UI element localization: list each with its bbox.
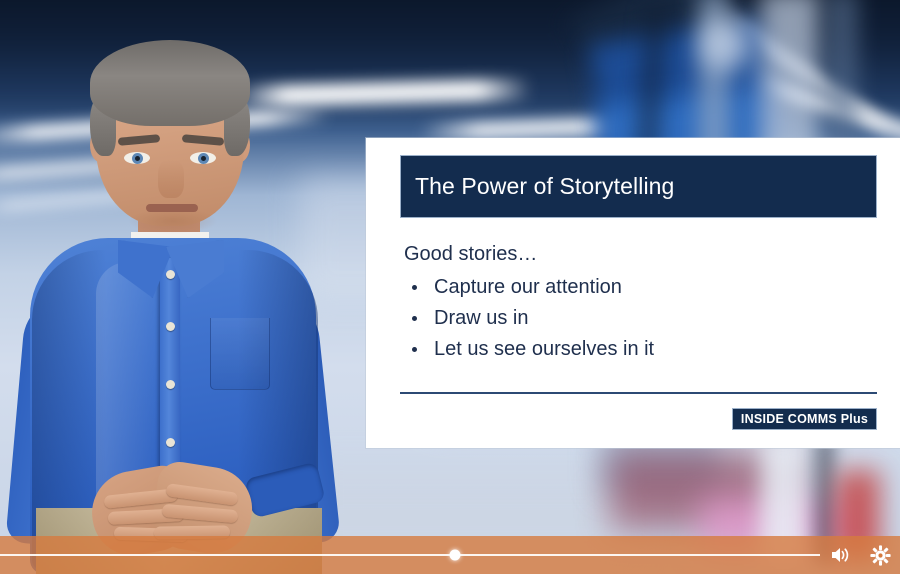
hair xyxy=(90,40,250,126)
iris xyxy=(198,153,209,164)
bullet-icon xyxy=(412,285,417,290)
list-item: Let us see ourselves in it xyxy=(404,334,874,365)
list-item-label: Capture our attention xyxy=(434,276,622,298)
presentation-slide: The Power of Storytelling Good stories… … xyxy=(366,138,900,448)
bullet-icon xyxy=(412,316,417,321)
shirt-button xyxy=(166,270,175,279)
slide-bullet-list: Capture our attention Draw us in Let us … xyxy=(404,272,874,365)
slide-lead-text: Good stories… xyxy=(404,238,874,270)
gear-icon xyxy=(870,545,891,566)
progress-bar[interactable] xyxy=(0,536,820,574)
slide-title: The Power of Storytelling xyxy=(401,173,674,200)
volume-button[interactable] xyxy=(820,536,860,574)
list-item: Draw us in xyxy=(404,303,874,334)
brand-logo-text: INSIDE COMMS Plus xyxy=(741,412,868,426)
list-item-label: Let us see ourselves in it xyxy=(434,338,654,360)
video-player: The Power of Storytelling Good stories… … xyxy=(0,0,900,574)
nose xyxy=(158,160,184,198)
progress-track[interactable] xyxy=(0,554,820,556)
bullet-icon xyxy=(412,347,417,352)
list-item-label: Draw us in xyxy=(434,307,528,329)
brand-logo-badge: INSIDE COMMS Plus xyxy=(732,408,877,430)
presenter xyxy=(0,0,380,574)
slide-body: Good stories… Capture our attention Draw… xyxy=(404,238,874,365)
chin-shading xyxy=(128,208,218,234)
list-item: Capture our attention xyxy=(404,272,874,303)
progress-handle[interactable] xyxy=(450,550,461,561)
eye-right xyxy=(190,152,216,164)
shirt-button xyxy=(166,322,175,331)
slide-title-bar: The Power of Storytelling xyxy=(400,155,877,218)
settings-button[interactable] xyxy=(860,536,900,574)
shirt-pocket xyxy=(210,318,270,390)
shirt-button xyxy=(166,438,175,447)
player-control-bar xyxy=(0,536,900,574)
bokeh-highlight xyxy=(700,18,752,70)
eye-left xyxy=(124,152,150,164)
shirt-button xyxy=(166,380,175,389)
volume-icon xyxy=(829,545,851,565)
slide-divider xyxy=(400,392,877,394)
iris xyxy=(132,153,143,164)
